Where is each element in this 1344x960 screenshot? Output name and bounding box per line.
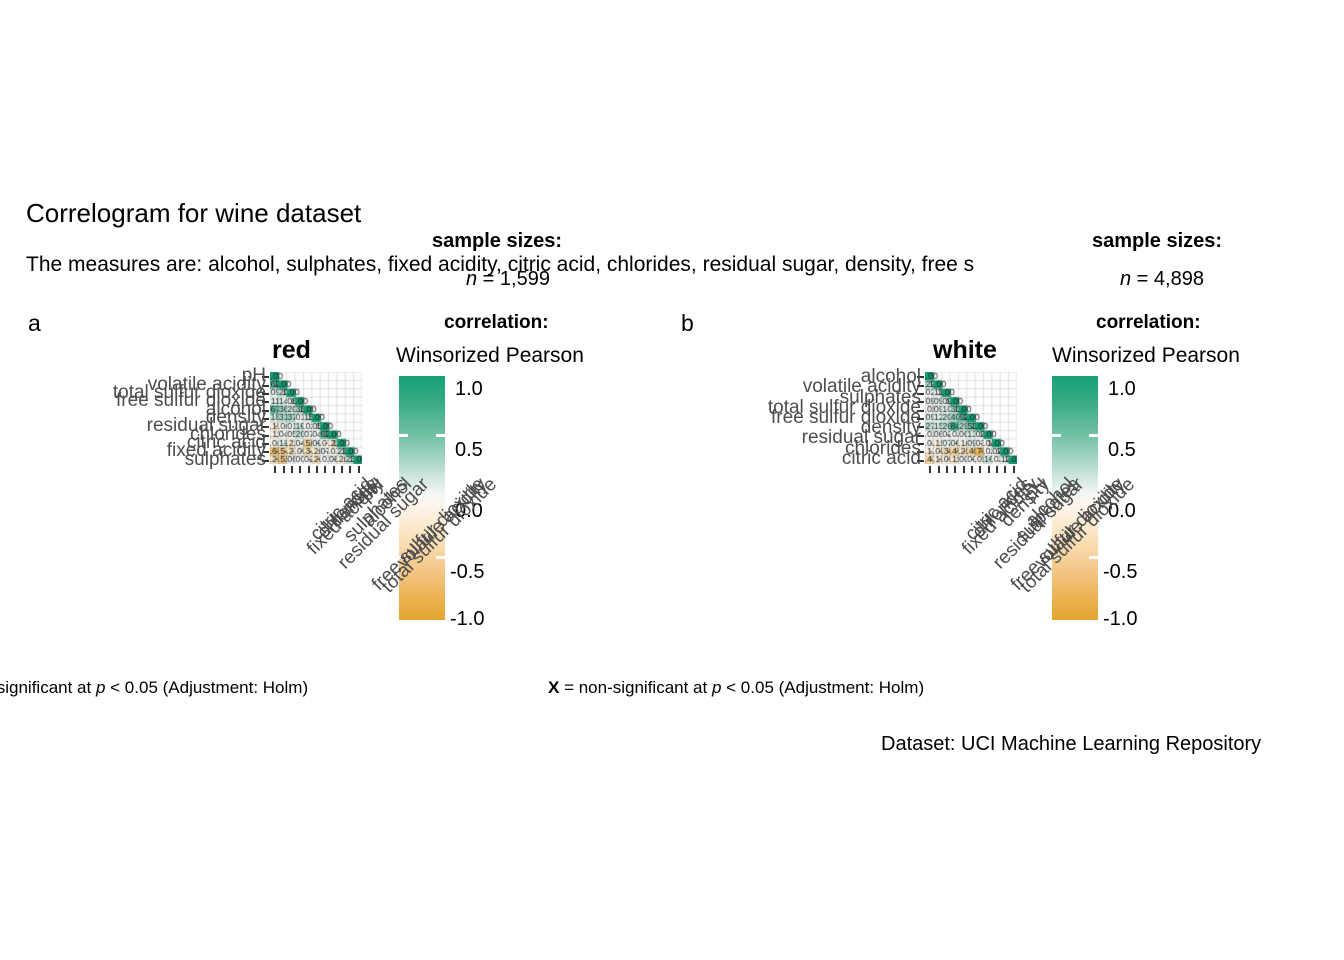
- y-axis-labels-red: pHvolatile aciditytotal sulfur dioxidefr…: [40, 372, 266, 464]
- caption-after-p-b: < 0.05 (Adjustment: Holm): [721, 678, 924, 697]
- panel-heading-red: red: [272, 336, 311, 365]
- caption-after-p-a: < 0.05 (Adjustment: Holm): [105, 678, 308, 697]
- legend-tick-mark-a-0: [399, 434, 408, 437]
- correlogram-matrix-red[interactable]: [270, 372, 362, 464]
- legend-tick-a-3: -0.5: [450, 561, 484, 584]
- dataset-caption: Dataset: UCI Machine Learning Repository: [881, 733, 1261, 756]
- legend-title-b: correlation:: [1096, 312, 1201, 334]
- legend-tick-a-1: 0.5: [455, 439, 483, 462]
- legend-tick-mark-a-1: [436, 434, 445, 437]
- x-axis-labels-red: fixed aciditycitric acidchloridesresidua…: [270, 470, 430, 610]
- significance-caption-a: X = non-significant at p < 0.05 (Adjustm…: [0, 678, 308, 698]
- sample-size-value-b: n = 4,898: [1120, 268, 1204, 291]
- significance-caption-b: X = non-significant at p < 0.05 (Adjustm…: [548, 678, 924, 698]
- y-axis-label: citric acid: [842, 449, 921, 468]
- sample-size-number-b: = 4,898: [1131, 268, 1204, 290]
- y-axis-label: sulphates: [185, 450, 266, 469]
- legend-tick-b-0: 1.0: [1108, 378, 1136, 401]
- y-axis-labels-white: alcoholvolatile aciditysulphatestotal su…: [700, 372, 921, 464]
- legend-tick-b-4: -1.0: [1103, 608, 1137, 631]
- legend-subtitle-b: Winsorized Pearson: [1052, 344, 1240, 368]
- panel-heading-white: white: [933, 336, 997, 365]
- legend-tick-b-1: 0.5: [1108, 439, 1136, 462]
- legend-subtitle-a: Winsorized Pearson: [396, 344, 584, 368]
- legend-tick-b-3: -0.5: [1103, 561, 1137, 584]
- legend-tick-mark-b-3: [1089, 556, 1098, 559]
- caption-before-p-b: = non-significant at: [559, 678, 712, 697]
- correlogram-cells-red: [270, 372, 362, 464]
- legend-tick-mark-b-1: [1089, 434, 1098, 437]
- sample-size-n-italic-a: n: [466, 268, 477, 290]
- x-axis-labels-white: fixed aciditycitric acidchloridesresidua…: [925, 470, 1085, 610]
- correlogram-matrix-white[interactable]: [925, 372, 1017, 464]
- axis-ticks-white: [0, 0, 1344, 960]
- sample-size-label-a: sample sizes:: [432, 230, 562, 253]
- sample-size-n-italic-b: n: [1120, 268, 1131, 290]
- legend-tick-a-0: 1.0: [455, 378, 483, 401]
- sample-size-number-a: = 1,599: [477, 268, 550, 290]
- caption-symbol-b: X: [548, 678, 559, 697]
- legend-tick-mark-b-0: [1052, 434, 1061, 437]
- legend-tick-a-4: -1.0: [450, 608, 484, 631]
- legend-title-a: correlation:: [444, 312, 549, 334]
- figure-root: Correlogram for wine dataset The measure…: [0, 0, 1344, 960]
- caption-before-p-a: = non-significant at: [0, 678, 96, 697]
- sample-size-value-a: n = 1,599: [466, 268, 550, 291]
- correlogram-cells-white: [925, 372, 1017, 464]
- sample-size-label-b: sample sizes:: [1092, 230, 1222, 253]
- panel-tag-b: b: [681, 310, 694, 337]
- page-title: Correlogram for wine dataset: [26, 198, 361, 228]
- legend-tick-mark-a-3: [436, 556, 445, 559]
- axis-ticks-red: [0, 0, 1344, 960]
- panel-tag-a: a: [28, 310, 41, 337]
